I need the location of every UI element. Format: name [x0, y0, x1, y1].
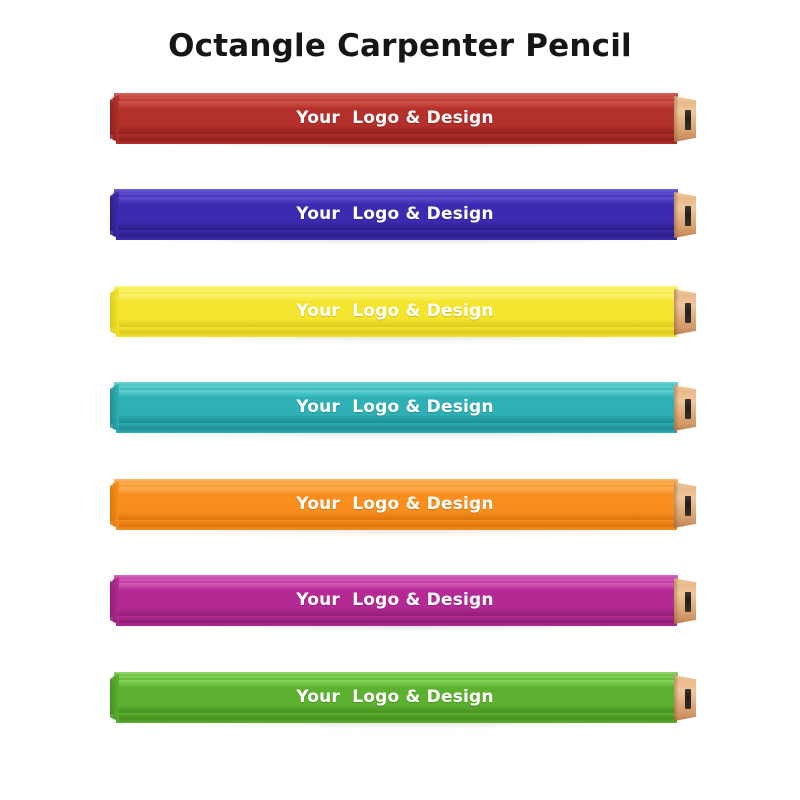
tip-shading: [674, 578, 679, 624]
pencil-body: Your Logo & Design: [110, 575, 696, 627]
pencil-lead-core: [685, 399, 691, 419]
pencil-lead-core: [685, 206, 691, 226]
pencil-orange: Your Logo & Design: [110, 479, 696, 537]
pencil-lead-core: [685, 303, 691, 323]
pencil-magenta: Your Logo & Design: [110, 575, 696, 633]
barrel-facet-bottom: [116, 235, 677, 240]
pencil-body: Your Logo & Design: [110, 189, 696, 241]
pencil-teal: Your Logo & Design: [110, 382, 696, 440]
barrel-facet-bottom: [116, 428, 677, 433]
pencil-barrel: Your Logo & Design: [110, 575, 680, 627]
tip-shading: [674, 385, 679, 431]
pencil-sharpened-tip: [674, 385, 696, 431]
barrel-facet-bottom: [116, 525, 677, 530]
tip-shading: [674, 96, 679, 142]
pencil-list: Your Logo & DesignYour Logo & DesignYour…: [0, 0, 800, 800]
pencil-body: Your Logo & Design: [110, 479, 696, 531]
tip-shading: [674, 289, 679, 335]
pencil-imprint-text: Your Logo & Design: [110, 487, 680, 521]
pencil-green: Your Logo & Design: [110, 672, 696, 730]
pencil-imprint-text: Your Logo & Design: [110, 680, 680, 714]
pencil-sharpened-tip: [674, 675, 696, 721]
pencil-lead-core: [685, 592, 691, 612]
pencil-body: Your Logo & Design: [110, 382, 696, 434]
barrel-facet-bottom: [116, 139, 677, 144]
pencil-imprint-text: Your Logo & Design: [110, 583, 680, 617]
pencil-sharpened-tip: [674, 192, 696, 238]
tip-shading: [674, 482, 679, 528]
pencil-yellow: Your Logo & Design: [110, 286, 696, 344]
pencil-body: Your Logo & Design: [110, 672, 696, 724]
pencil-barrel: Your Logo & Design: [110, 382, 680, 434]
pencil-lead-core: [685, 110, 691, 130]
pencil-imprint-text: Your Logo & Design: [110, 294, 680, 328]
pencil-lead-core: [685, 496, 691, 516]
pencil-imprint-text: Your Logo & Design: [110, 101, 680, 135]
pencil-red: Your Logo & Design: [110, 93, 696, 151]
product-image-canvas: Octangle Carpenter Pencil Your Logo & De…: [0, 0, 800, 800]
pencil-blue: Your Logo & Design: [110, 189, 696, 247]
pencil-sharpened-tip: [674, 578, 696, 624]
pencil-body: Your Logo & Design: [110, 286, 696, 338]
barrel-facet-bottom: [116, 621, 677, 626]
pencil-body: Your Logo & Design: [110, 93, 696, 145]
pencil-barrel: Your Logo & Design: [110, 93, 680, 145]
pencil-sharpened-tip: [674, 482, 696, 528]
pencil-lead-core: [685, 689, 691, 709]
pencil-barrel: Your Logo & Design: [110, 286, 680, 338]
pencil-sharpened-tip: [674, 289, 696, 335]
barrel-facet-bottom: [116, 718, 677, 723]
pencil-imprint-text: Your Logo & Design: [110, 390, 680, 424]
pencil-barrel: Your Logo & Design: [110, 189, 680, 241]
barrel-facet-bottom: [116, 332, 677, 337]
pencil-barrel: Your Logo & Design: [110, 479, 680, 531]
pencil-barrel: Your Logo & Design: [110, 672, 680, 724]
tip-shading: [674, 192, 679, 238]
pencil-sharpened-tip: [674, 96, 696, 142]
pencil-imprint-text: Your Logo & Design: [110, 197, 680, 231]
tip-shading: [674, 675, 679, 721]
